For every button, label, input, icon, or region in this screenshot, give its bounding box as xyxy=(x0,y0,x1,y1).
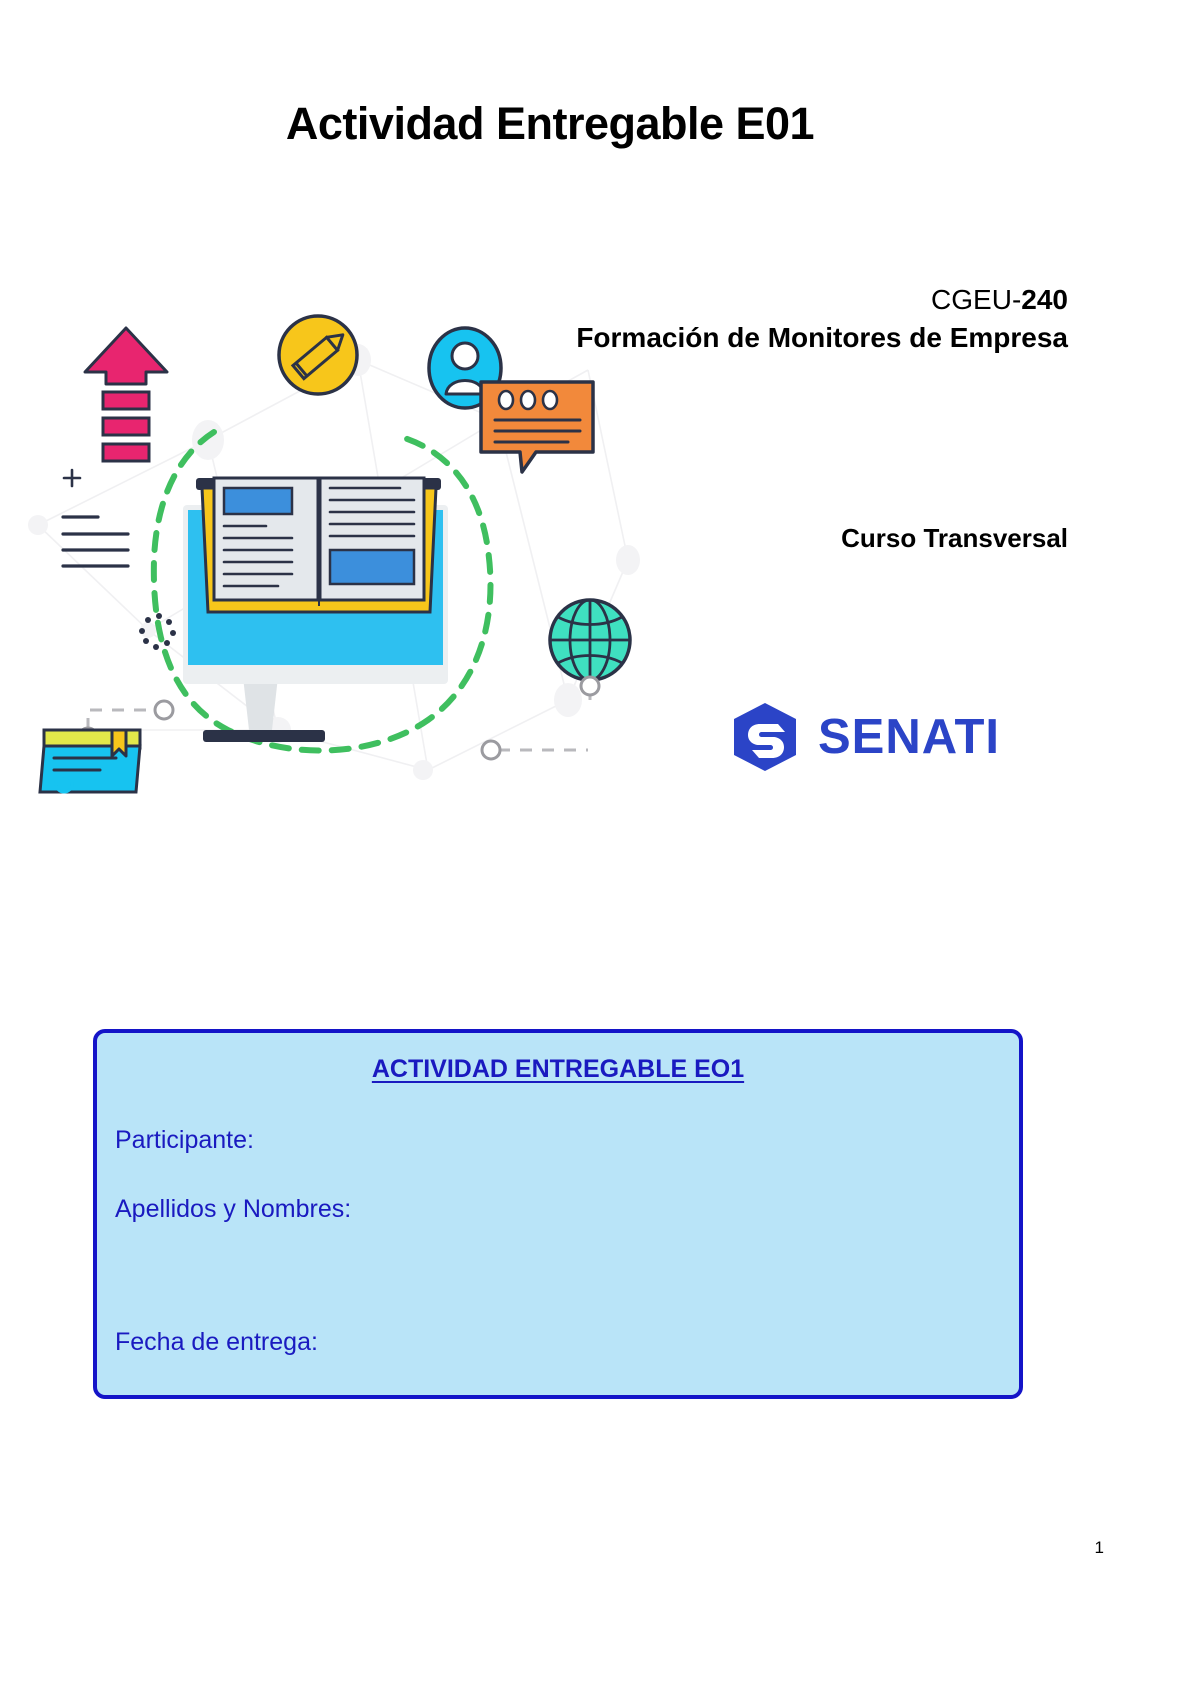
course-type: Curso Transversal xyxy=(508,523,1068,554)
info-box-title: ACTIVIDAD ENTREGABLE EO1 xyxy=(97,1055,1019,1084)
course-info: CGEU-240 Formación de Monitores de Empre… xyxy=(508,281,1068,357)
course-code-prefix: CGEU- xyxy=(931,284,1021,315)
page-number: 1 xyxy=(1095,1538,1104,1558)
pink-arrow-icon xyxy=(85,328,167,461)
field-apellidos-nombres[interactable]: Apellidos y Nombres: xyxy=(115,1195,1019,1224)
field-participante[interactable]: Participante: xyxy=(115,1126,1019,1155)
course-code: CGEU-240 xyxy=(508,281,1068,319)
open-book-icon xyxy=(196,478,441,612)
course-name: Formación de Monitores de Empresa xyxy=(508,319,1068,357)
senati-mark-icon xyxy=(728,700,802,774)
books-icon xyxy=(40,730,140,792)
field-fecha-entrega[interactable]: Fecha de entrega: xyxy=(115,1328,1019,1357)
page-title: Actividad Entregable E01 xyxy=(0,98,1100,150)
senati-logo: SENATI xyxy=(728,698,998,776)
chat-bubble-icon xyxy=(481,382,593,472)
pencil-circle-icon xyxy=(279,316,357,394)
senati-wordmark: SENATI xyxy=(818,713,1000,762)
assignment-info-box: ACTIVIDAD ENTREGABLE EO1 Participante: A… xyxy=(93,1029,1023,1399)
course-code-number: 240 xyxy=(1021,284,1068,315)
